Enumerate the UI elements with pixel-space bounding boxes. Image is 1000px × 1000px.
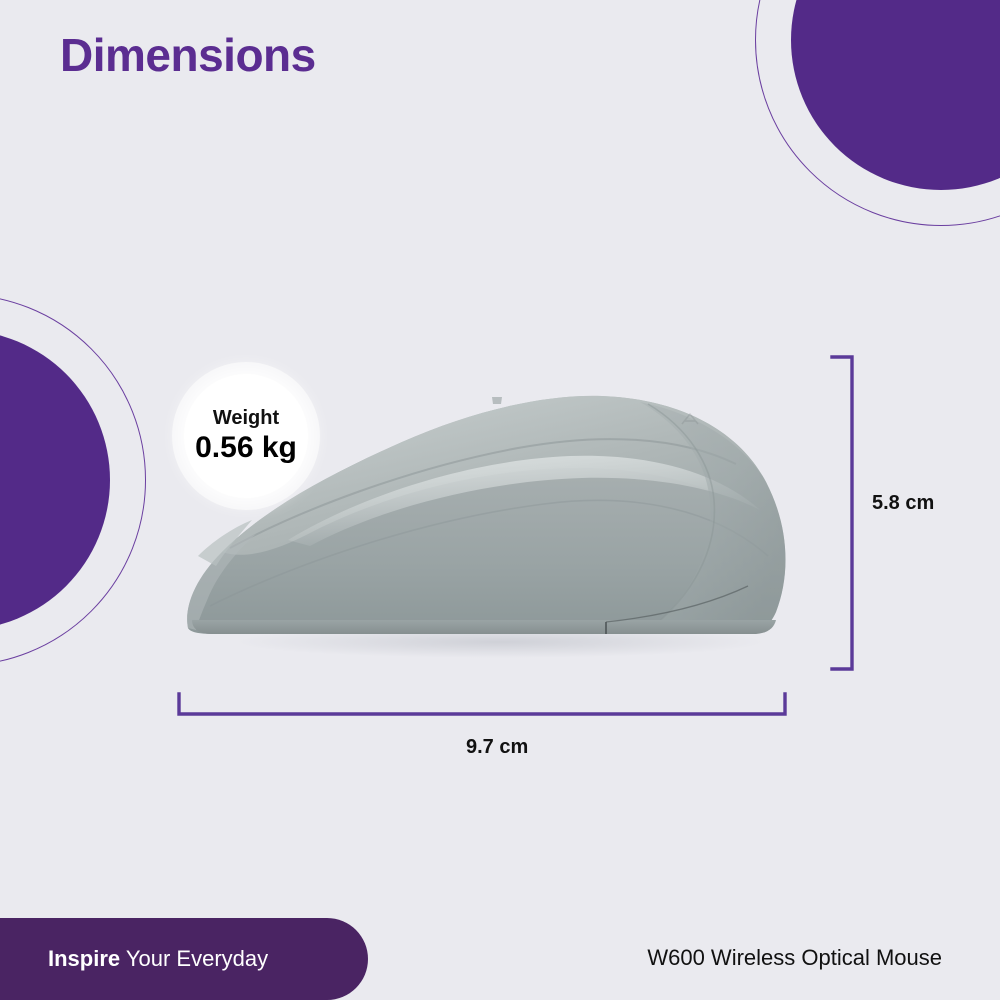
product-name: W600 Wireless Optical Mouse	[647, 945, 942, 971]
page-title: Dimensions	[60, 28, 316, 82]
width-dimension-label: 9.7 cm	[466, 736, 528, 759]
weight-badge-inner: Weight 0.56 kg	[184, 374, 308, 498]
footer-tagline-bold: Inspire	[48, 946, 120, 971]
width-dimension-bracket	[172, 688, 792, 724]
weight-label: Weight	[213, 407, 279, 429]
weight-badge: Weight 0.56 kg	[172, 362, 320, 510]
footer-banner: Inspire Your Everyday	[0, 918, 368, 1000]
height-dimension-label: 5.8 cm	[872, 492, 934, 515]
weight-value: 0.56 kg	[195, 431, 297, 466]
height-dimension-bracket	[826, 350, 860, 676]
footer-tagline: Inspire Your Everyday	[48, 946, 268, 972]
infographic-page: Dimensions	[0, 0, 1000, 1000]
footer-tagline-rest: Your Everyday	[120, 946, 268, 971]
